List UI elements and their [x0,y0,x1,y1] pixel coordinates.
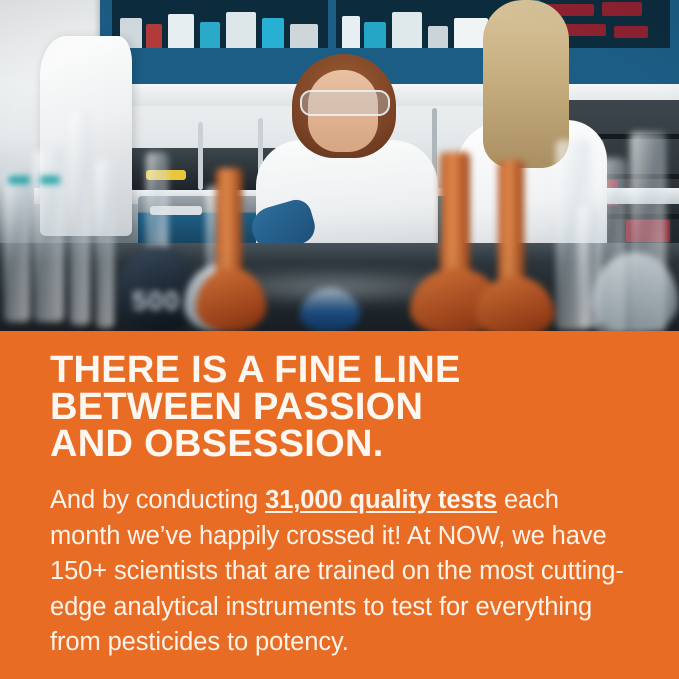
headline-line-3: AND OBSESSION. [50,426,650,463]
lab-photo: 500 [0,0,679,331]
body-copy: And by conducting 31,000 quality tests e… [50,483,630,661]
headline-line-1: THERE IS A FINE LINE [50,352,650,389]
marketing-ad-card: 500 THERE IS A FINE LINE [0,0,679,679]
foreground-glassware: 500 [0,0,679,331]
beaker-blue-liquid [300,288,360,331]
body-copy-before: And by conducting [50,486,265,514]
headline-line-2: BETWEEN PASSION [50,389,650,426]
amber-flask-body-1 [196,268,266,331]
page-title: THERE IS A FINE LINE BETWEEN PASSION AND… [50,352,650,463]
quality-tests-stat: 31,000 quality tests [265,486,497,514]
flask-label-500: 500 [132,286,180,317]
orange-message-panel: THERE IS A FINE LINE BETWEEN PASSION AND… [0,331,679,679]
